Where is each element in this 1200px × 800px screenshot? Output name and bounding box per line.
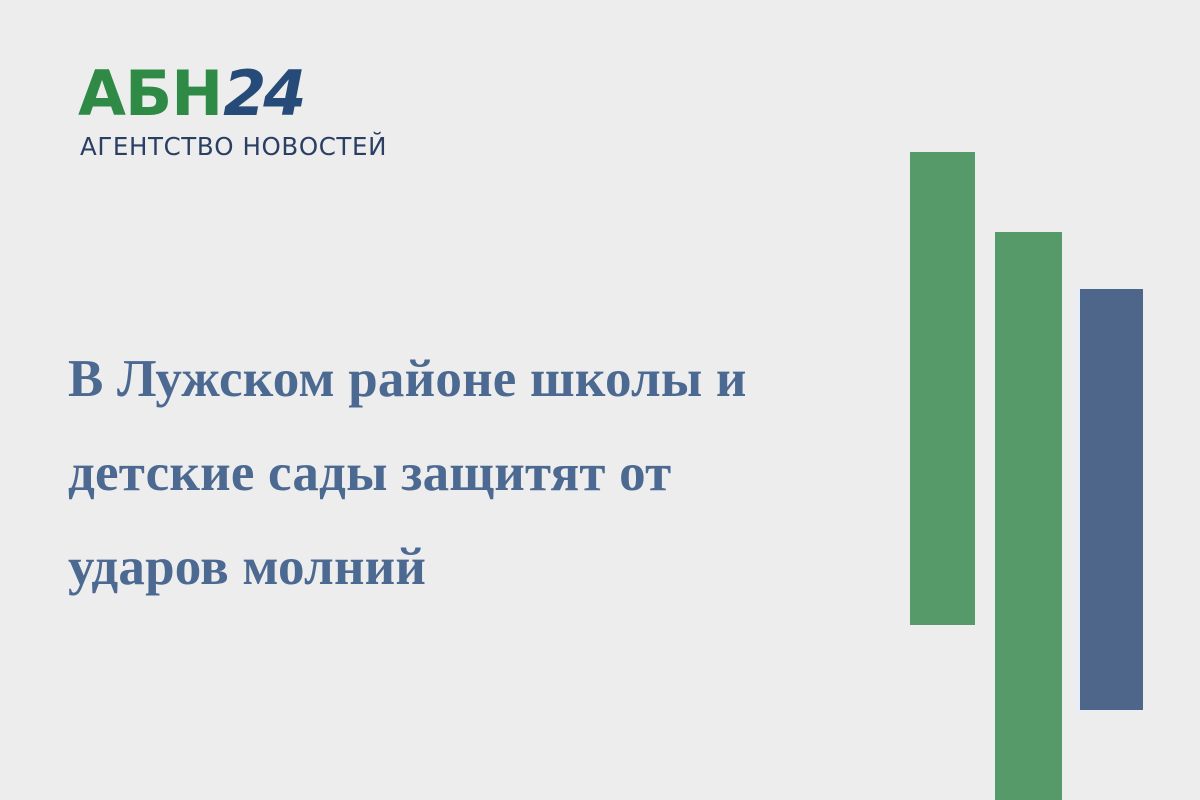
headline-line-3: ударов молний [68,520,888,614]
headline-line-2: детские сады защитят от [68,426,888,520]
decorative-bar-3 [1080,289,1143,710]
headline-line-1: В Лужском районе школы и [68,332,888,426]
page-title: В Лужском районе школы и детские сады за… [68,332,888,614]
logo-text-24: 24 [223,57,303,130]
decorative-bar-1 [910,152,975,625]
decorative-bar-2 [995,232,1062,800]
news-card: АБН24 АГЕНТСТВО НОВОСТЕЙ В Лужском район… [0,0,1200,800]
logo-tagline: АГЕНТСТВО НОВОСТЕЙ [80,133,378,161]
logo-text-abn: АБН [78,57,222,130]
logo-wordmark: АБН24 [78,60,378,128]
bar-accent-stripe [1076,287,1082,712]
abn24-logo: АБН24 АГЕНТСТВО НОВОСТЕЙ [78,60,378,165]
